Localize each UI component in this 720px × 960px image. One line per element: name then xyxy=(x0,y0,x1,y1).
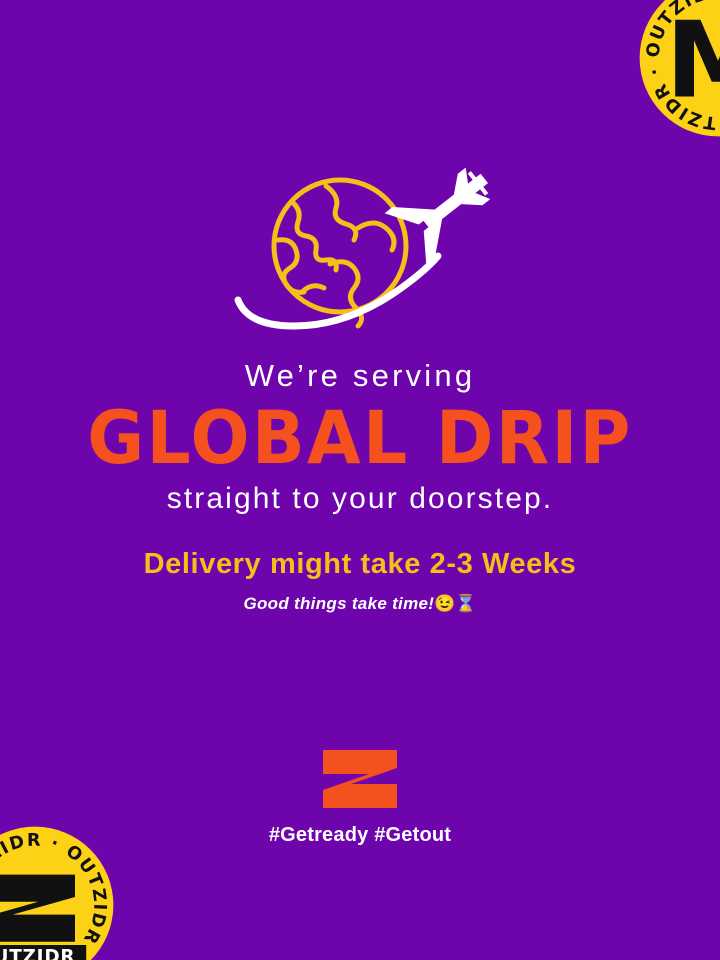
outzidr-badge-top-right: OUTZIDR · OUTZIDR · OUTZIDR · OUTZIDR · … xyxy=(638,0,720,138)
eyebrow-text: We’re serving xyxy=(0,360,720,393)
reassurance-text: Good things take time! xyxy=(243,594,434,613)
subhead-text: straight to your doorstep. xyxy=(0,483,720,515)
airplane-icon xyxy=(385,168,490,267)
badge-center-letter: M xyxy=(665,0,720,121)
outzidr-badge-bottom-left: OUTZIDR · OUTZIDR · OUTZIDR · OUTZIDR · … xyxy=(0,825,115,960)
z-logo-icon xyxy=(321,748,399,810)
hero-illustration xyxy=(0,168,720,344)
wink-emoji-icon: 😉 xyxy=(434,594,455,613)
delivery-notice-block: Delivery might take 2-3 Weeks Good thing… xyxy=(0,548,720,614)
headline-block: We’re serving GLOBAL DRIP straight to yo… xyxy=(0,360,720,514)
page-title: GLOBAL DRIP xyxy=(0,401,720,474)
delivery-time-text: Delivery might take 2-3 Weeks xyxy=(0,548,720,581)
hourglass-emoji-icon: ⌛ xyxy=(455,594,476,613)
reassurance-line: Good things take time!😉⌛ xyxy=(0,594,720,614)
badge-center-label: OUTZIDR xyxy=(0,947,75,960)
globe-icon xyxy=(274,180,406,326)
promo-poster: We’re serving GLOBAL DRIP straight to yo… xyxy=(0,0,720,960)
